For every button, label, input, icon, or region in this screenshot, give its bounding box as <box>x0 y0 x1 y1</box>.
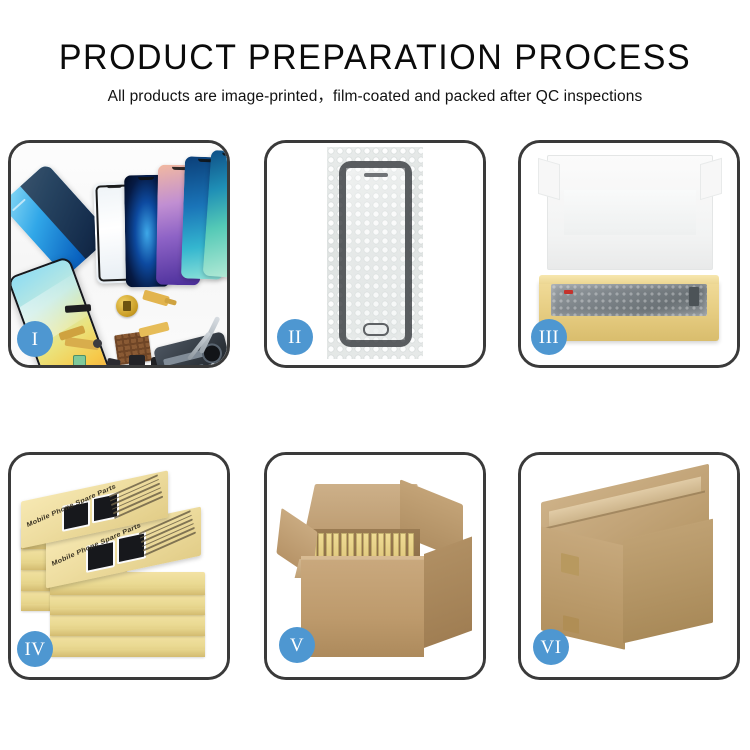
kraft-box <box>50 593 205 616</box>
home-button <box>363 323 389 336</box>
step-badge-5: V <box>279 627 315 663</box>
part-battery <box>73 355 86 365</box>
carton-right-face <box>623 518 713 642</box>
wrapped-screen-in-box <box>551 284 706 316</box>
carton-right-face <box>424 537 472 648</box>
step-badge-2: II <box>277 319 313 355</box>
red-label-tab <box>564 290 573 294</box>
step-badge-1: I <box>17 321 53 357</box>
step-panel-open-carton: V <box>264 452 486 680</box>
step-panel-sealed-carton: VI <box>518 452 740 680</box>
kraft-box <box>50 613 205 636</box>
screen-connector-tab <box>689 287 699 306</box>
step-badge-3: III <box>531 319 567 355</box>
wrapped-screen-glass <box>339 161 412 347</box>
step-panel-boxed-screen: III <box>518 140 740 368</box>
part-camera-module <box>129 355 145 365</box>
carton-front-face <box>301 560 424 658</box>
product-preparation-infographic: PRODUCT PREPARATION PROCESS All products… <box>0 0 750 750</box>
earpiece-slot <box>364 173 388 177</box>
bubble-wrap-sheet <box>327 147 423 359</box>
part-screw-1 <box>211 363 215 365</box>
step-badge-6: VI <box>533 629 569 665</box>
part-speaker-coil <box>116 295 138 317</box>
steps-grid: I II <box>0 0 750 750</box>
box-spec-lines <box>109 474 163 518</box>
step-panel-bubble-wrapped-screen: II <box>264 140 486 368</box>
part-vibrator <box>93 339 102 348</box>
white-box-lid <box>547 155 714 270</box>
step-badge-4: IV <box>17 631 53 667</box>
step-panel-stacked-boxes: Mobile Phone Spare Parts Mobile Phone Sp… <box>8 452 230 680</box>
kraft-box <box>50 634 205 657</box>
step-panel-product-assortment: I <box>8 140 230 368</box>
foam-liner <box>564 190 696 235</box>
